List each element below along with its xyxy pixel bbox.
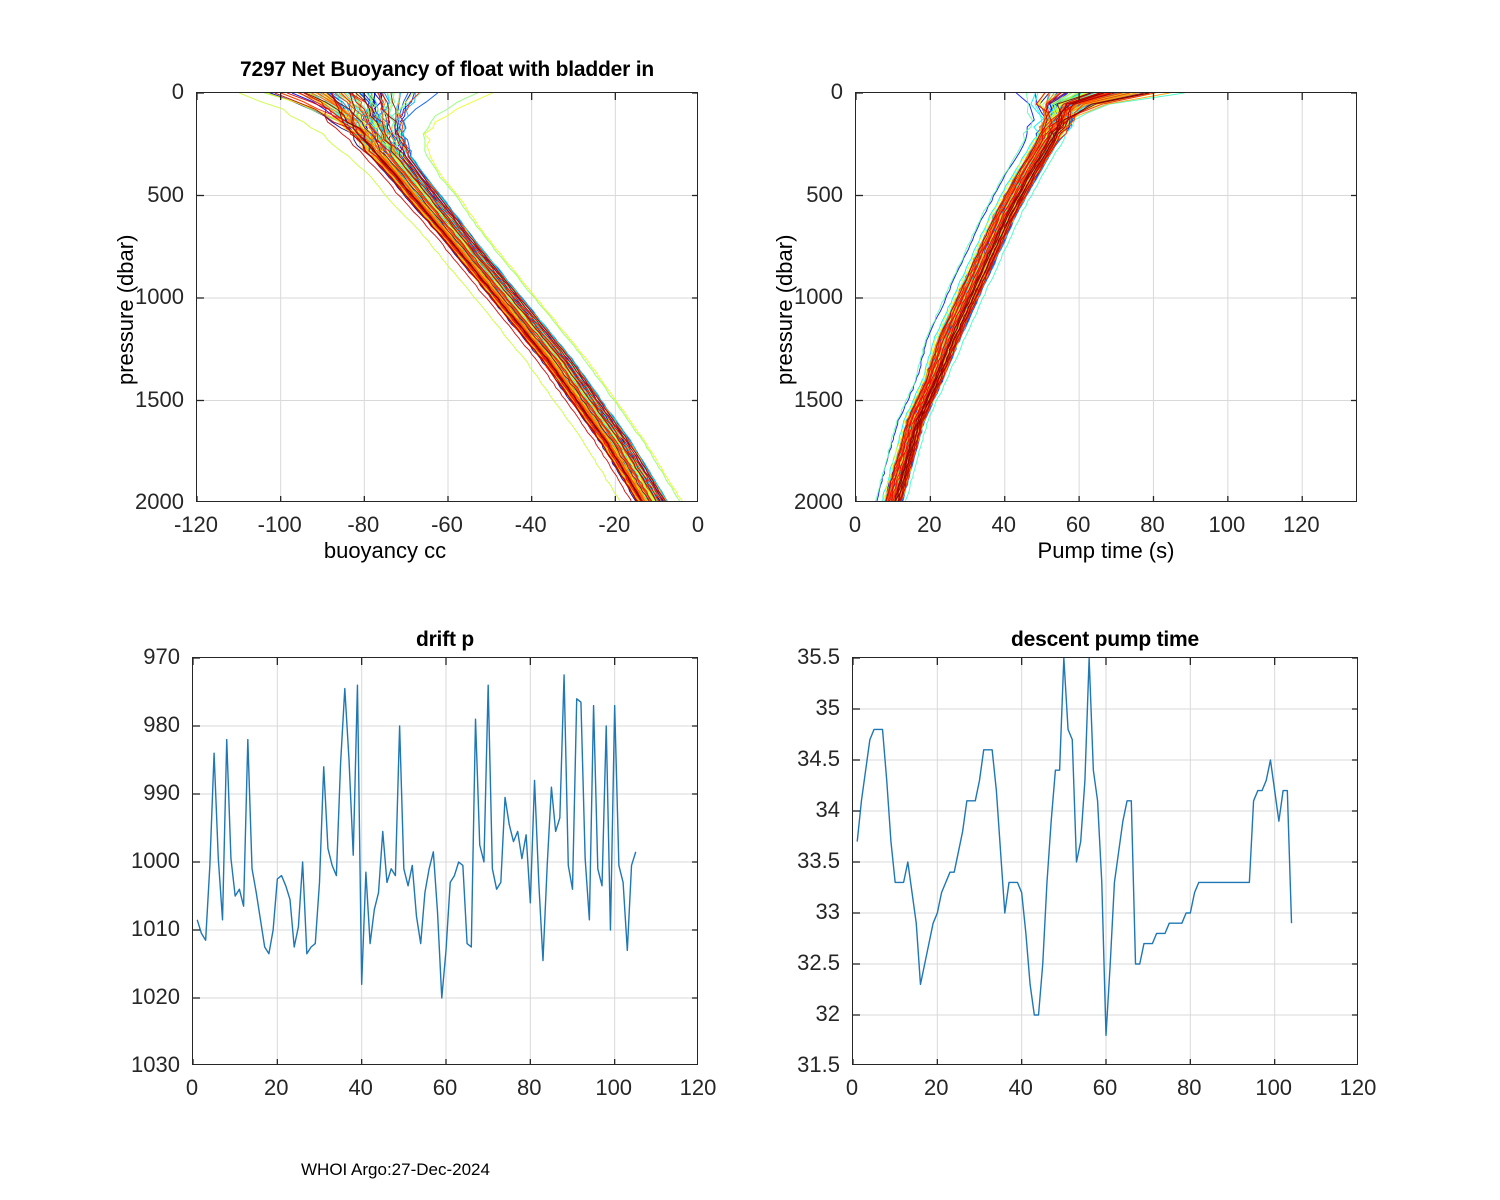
xtick-br-20: 20 xyxy=(924,1075,948,1101)
xtick-tl--120: -120 xyxy=(174,512,218,538)
ytick-bl-970: 970 xyxy=(120,644,180,670)
figure-footer: WHOI Argo:27-Dec-2024 xyxy=(301,1160,490,1180)
xtick-tr-60: 60 xyxy=(1066,512,1090,538)
xtick-tr-40: 40 xyxy=(992,512,1016,538)
xtick-tr-100: 100 xyxy=(1209,512,1246,538)
figure-canvas: 7297 Net Buoyancy of float with bladder … xyxy=(0,0,1500,1200)
ytick-br-35: 35 xyxy=(780,695,840,721)
panel-title-drift-p: drift p xyxy=(192,628,698,652)
xaxis-label-pump-time: Pump time (s) xyxy=(1038,538,1175,564)
panel-title-net-buoyancy: 7297 Net Buoyancy of float with bladder … xyxy=(196,58,698,82)
xtick-bl-20: 20 xyxy=(264,1075,288,1101)
xtick-tr-20: 20 xyxy=(917,512,941,538)
ytick-bl-980: 980 xyxy=(120,712,180,738)
ytick-tr-2000: 2000 xyxy=(787,489,843,515)
plot-area-net-buoyancy xyxy=(196,92,698,502)
ytick-bl-1000: 1000 xyxy=(120,848,180,874)
plot-area-pump-time xyxy=(855,92,1357,502)
ytick-bl-990: 990 xyxy=(120,780,180,806)
ytick-br-35p5: 35.5 xyxy=(780,644,840,670)
xtick-tr-0: 0 xyxy=(849,512,861,538)
xtick-tl--60: -60 xyxy=(431,512,463,538)
xtick-br-0: 0 xyxy=(846,1075,858,1101)
xtick-br-100: 100 xyxy=(1255,1075,1292,1101)
xtick-bl-100: 100 xyxy=(595,1075,632,1101)
ytick-bl-1020: 1020 xyxy=(120,984,180,1010)
xtick-bl-0: 0 xyxy=(186,1075,198,1101)
xtick-tl-0: 0 xyxy=(692,512,704,538)
xaxis-label-buoyancy: buoyancy cc xyxy=(324,538,446,564)
xtick-tl--20: -20 xyxy=(598,512,630,538)
ytick-tl-1500: 1500 xyxy=(128,387,184,413)
ytick-br-33p5: 33.5 xyxy=(780,848,840,874)
xtick-tl--100: -100 xyxy=(258,512,302,538)
ytick-br-31p5: 31.5 xyxy=(780,1052,840,1078)
ytick-br-34p5: 34.5 xyxy=(780,746,840,772)
ytick-br-34: 34 xyxy=(780,797,840,823)
xtick-br-60: 60 xyxy=(1093,1075,1117,1101)
ytick-tr-1500: 1500 xyxy=(787,387,843,413)
xtick-br-40: 40 xyxy=(1008,1075,1032,1101)
xtick-bl-60: 60 xyxy=(433,1075,457,1101)
ytick-tr-0: 0 xyxy=(787,79,843,105)
ytick-bl-1010: 1010 xyxy=(120,916,180,942)
xtick-bl-80: 80 xyxy=(517,1075,541,1101)
ytick-br-33: 33 xyxy=(780,899,840,925)
panel-title-descent-pump-time: descent pump time xyxy=(852,628,1358,652)
plot-area-descent-pump-time xyxy=(852,657,1358,1065)
xtick-bl-120: 120 xyxy=(680,1075,717,1101)
xtick-br-120: 120 xyxy=(1340,1075,1377,1101)
ytick-bl-1030: 1030 xyxy=(120,1052,180,1078)
plot-area-drift-p xyxy=(192,657,698,1065)
xtick-bl-40: 40 xyxy=(348,1075,372,1101)
ytick-br-32: 32 xyxy=(780,1001,840,1027)
xtick-tl--40: -40 xyxy=(515,512,547,538)
yaxis-label-pressure-tl: pressure (dbar) xyxy=(113,235,139,385)
xtick-br-80: 80 xyxy=(1177,1075,1201,1101)
xtick-tr-120: 120 xyxy=(1283,512,1320,538)
ytick-tl-500: 500 xyxy=(128,182,184,208)
ytick-tr-500: 500 xyxy=(787,182,843,208)
ytick-br-32p5: 32.5 xyxy=(780,950,840,976)
ytick-tl-0: 0 xyxy=(128,79,184,105)
xtick-tr-80: 80 xyxy=(1140,512,1164,538)
xtick-tl--80: -80 xyxy=(347,512,379,538)
yaxis-label-pressure-tr: pressure (dbar) xyxy=(772,235,798,385)
